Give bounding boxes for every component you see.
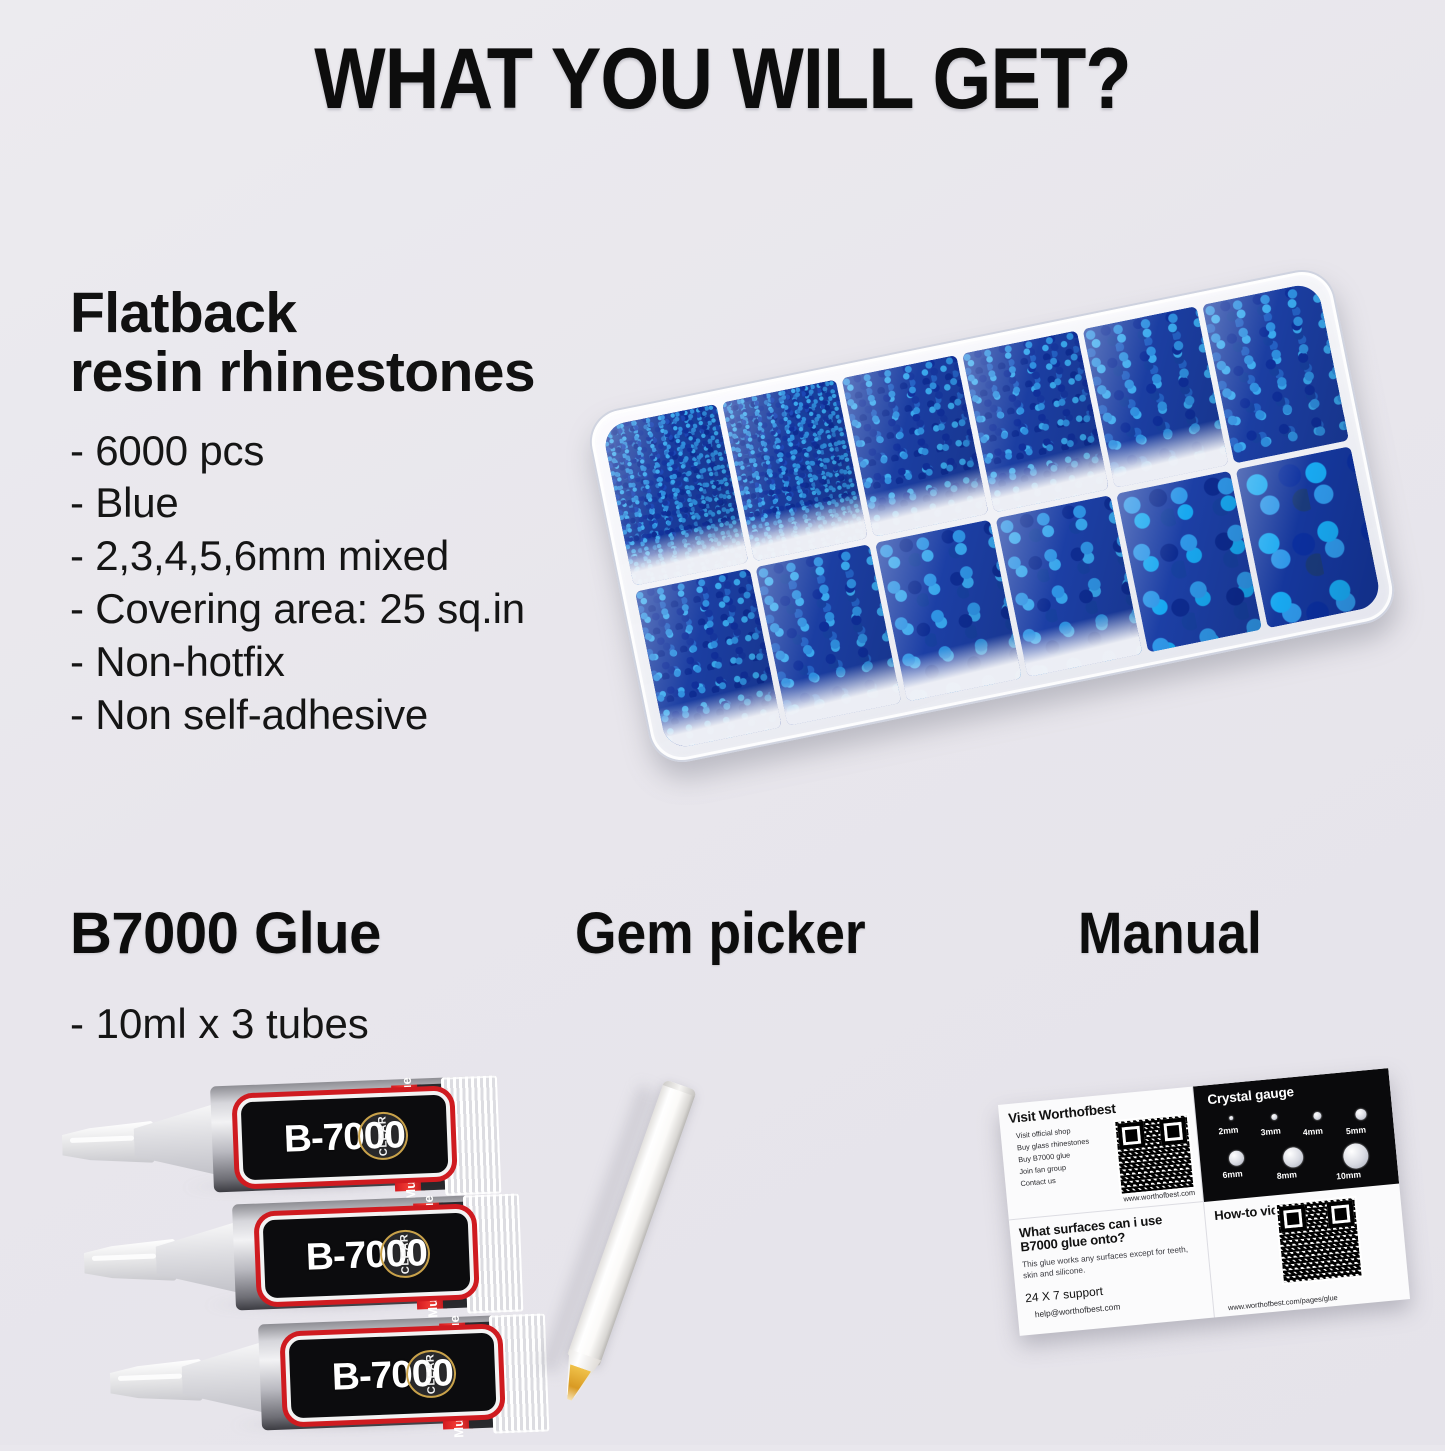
compartment	[722, 379, 869, 561]
infographic-canvas: WHAT YOU WILL GET? Flatback resin rhines…	[0, 0, 1445, 1445]
compartment	[996, 495, 1143, 677]
card-quadrant-howto: How-to videos www.worthofbest.com/pages/…	[1204, 1184, 1410, 1318]
card-quadrant-faq: What surfaces can i use B7000 glue onto?…	[1009, 1202, 1215, 1336]
card-quadrant-crystal-gauge: Crystal gauge 2mm 3mm 4mm 5mm 6mm 8mm 10…	[1193, 1068, 1399, 1202]
manual-heading: Manual	[1078, 905, 1262, 963]
rhinestone-heading: Flatback resin rhinestones	[70, 284, 690, 403]
clear-text: CLEAR	[424, 1354, 438, 1395]
rhinestone-heading-line2: resin rhinestones	[70, 340, 535, 404]
gauge-size-label: 4mm	[1302, 1126, 1323, 1138]
compartment	[842, 355, 989, 537]
gauge-stone	[1229, 1116, 1233, 1120]
compartment	[755, 544, 902, 726]
glue-tube: Multi-Purpose Glue 0.5 OZ | 15mL B-7000 …	[60, 1070, 494, 1204]
compartment	[962, 330, 1109, 512]
gauge-size-label: 5mm	[1346, 1124, 1367, 1136]
qr-code-icon	[1274, 1196, 1363, 1285]
manual-card: Visit Worthofbest Visit official shop Bu…	[998, 1068, 1410, 1336]
gem-fill	[1116, 471, 1263, 653]
list-item: - Covering area: 25 sq.in	[70, 583, 690, 636]
gem-fill	[1202, 282, 1349, 464]
glue-tube: Multi-Purpose Glue 0.5 OZ | 15mL B-7000 …	[82, 1188, 516, 1322]
gauge-stone	[1271, 1114, 1278, 1121]
gauge-stone	[1228, 1150, 1244, 1166]
card-quadrant-visit: Visit Worthofbest Visit official shop Bu…	[998, 1087, 1204, 1221]
compartment	[1082, 306, 1229, 488]
rhinestone-spec-block: Flatback resin rhinestones - 6000 pcs - …	[70, 284, 690, 742]
gauge-size-label: 10mm	[1336, 1169, 1362, 1181]
rhinestone-storage-box	[612, 296, 1412, 796]
page-title: WHAT YOU WILL GET?	[87, 36, 1359, 122]
compartment	[1202, 282, 1349, 464]
gem-fill	[1236, 446, 1383, 628]
gauge-size-label: 6mm	[1222, 1168, 1243, 1180]
glue-bullet: - 10ml x 3 tubes	[70, 1000, 369, 1048]
howto-url: www.worthofbest.com/pages/glue	[1228, 1293, 1338, 1312]
tube-brand-label: B-7000	[236, 1090, 452, 1184]
gem-picker-pencil	[552, 1078, 701, 1401]
clear-text: CLEAR	[398, 1234, 412, 1275]
list-item: - Non self-adhesive	[70, 689, 690, 742]
clear-text: CLEAR	[376, 1116, 390, 1157]
gauge-stone	[1355, 1108, 1367, 1120]
gauge-stone	[1282, 1147, 1304, 1169]
tube-brand-label: B-7000	[284, 1328, 500, 1422]
gauge-size-label: 2mm	[1218, 1124, 1239, 1136]
compartment	[601, 404, 748, 586]
compartment	[1236, 446, 1383, 628]
gauge-stone	[1342, 1142, 1369, 1169]
list-item: - Non-hotfix	[70, 636, 690, 689]
compartment	[635, 568, 782, 750]
compartment	[875, 520, 1022, 702]
gauge-size-label: 8mm	[1276, 1169, 1297, 1181]
gem-picker-heading: Gem picker	[575, 905, 866, 963]
glue-heading: B7000 Glue	[70, 905, 381, 963]
glue-tube: Multi-Purpose Glue 0.5 OZ | 15mL B-7000 …	[108, 1308, 542, 1442]
list-item: - 2,3,4,5,6mm mixed	[70, 530, 690, 583]
compartment	[1116, 471, 1263, 653]
rhinestone-heading-line1: Flatback	[70, 281, 296, 345]
box-compartment-grid	[601, 282, 1382, 751]
qr-code-icon	[1113, 1113, 1196, 1196]
gauge-size-label: 3mm	[1260, 1125, 1281, 1137]
tube-brand-label: B-7000	[258, 1208, 474, 1302]
box-body	[584, 264, 1401, 768]
gauge-stone	[1313, 1112, 1322, 1121]
